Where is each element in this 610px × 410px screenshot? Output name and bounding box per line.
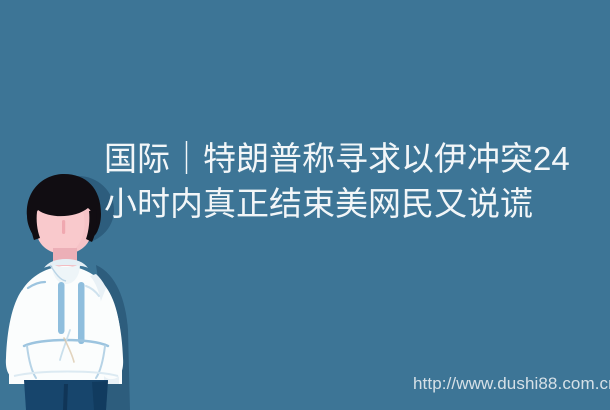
site-url-watermark: http://www.dushi88.com.cn	[413, 374, 610, 394]
nose	[62, 220, 65, 234]
pants-shade	[92, 381, 108, 410]
page-title: 国际｜特朗普称寻求以伊冲突24小时内真正结束美网民又说谎	[104, 136, 584, 226]
poster-canvas: 国际｜特朗普称寻求以伊冲突24小时内真正结束美网民又说谎 http://www.…	[0, 0, 610, 410]
drawstring-left	[58, 282, 65, 334]
drawstring-right	[78, 282, 85, 344]
sleeve-left	[6, 290, 30, 379]
